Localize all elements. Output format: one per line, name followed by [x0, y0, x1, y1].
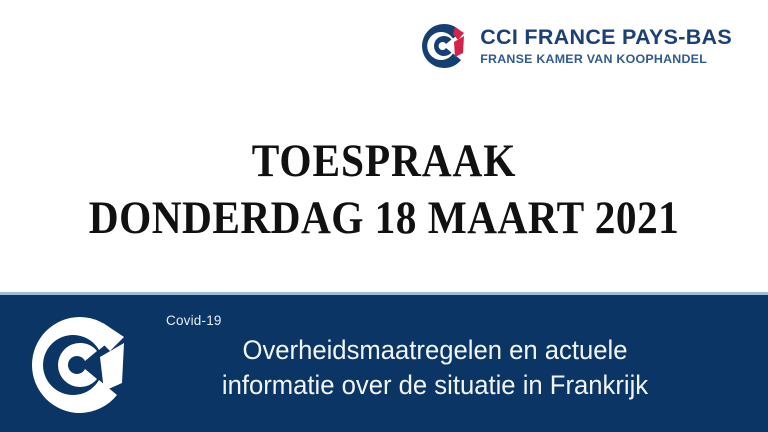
cci-logo-mark-white-icon	[28, 309, 132, 421]
title-line-2: DONDERDAG 18 MAART 2021	[46, 189, 722, 247]
cci-header-logo: CCI FRANCE PAYS-BAS FRANSE KAMER VAN KOO…	[418, 22, 732, 70]
cci-logo-title: CCI FRANCE PAYS-BAS	[480, 27, 732, 49]
covid-label: Covid-19	[166, 313, 222, 328]
banner-headline-line-1: Overheidsmaatregelen en actuele	[164, 333, 706, 368]
slide-canvas: CCI FRANCE PAYS-BAS FRANSE KAMER VAN KOO…	[0, 0, 768, 432]
banner-headline: Overheidsmaatregelen en actuele informat…	[150, 333, 720, 403]
slide-title: TOESPRAAK DONDERDAG 18 MAART 2021	[0, 133, 768, 247]
cci-logo-mark-icon	[418, 22, 470, 70]
title-line-1: TOESPRAAK	[46, 133, 722, 189]
covid-banner: Covid-19 Overheidsmaatregelen en actuele…	[0, 292, 768, 432]
cci-logo-subtitle: FRANSE KAMER VAN KOOPHANDEL	[480, 53, 732, 65]
cci-logo-wordmark: CCI FRANCE PAYS-BAS FRANSE KAMER VAN KOO…	[480, 27, 732, 65]
banner-headline-line-2: informatie over de situatie in Frankrijk	[164, 368, 706, 403]
